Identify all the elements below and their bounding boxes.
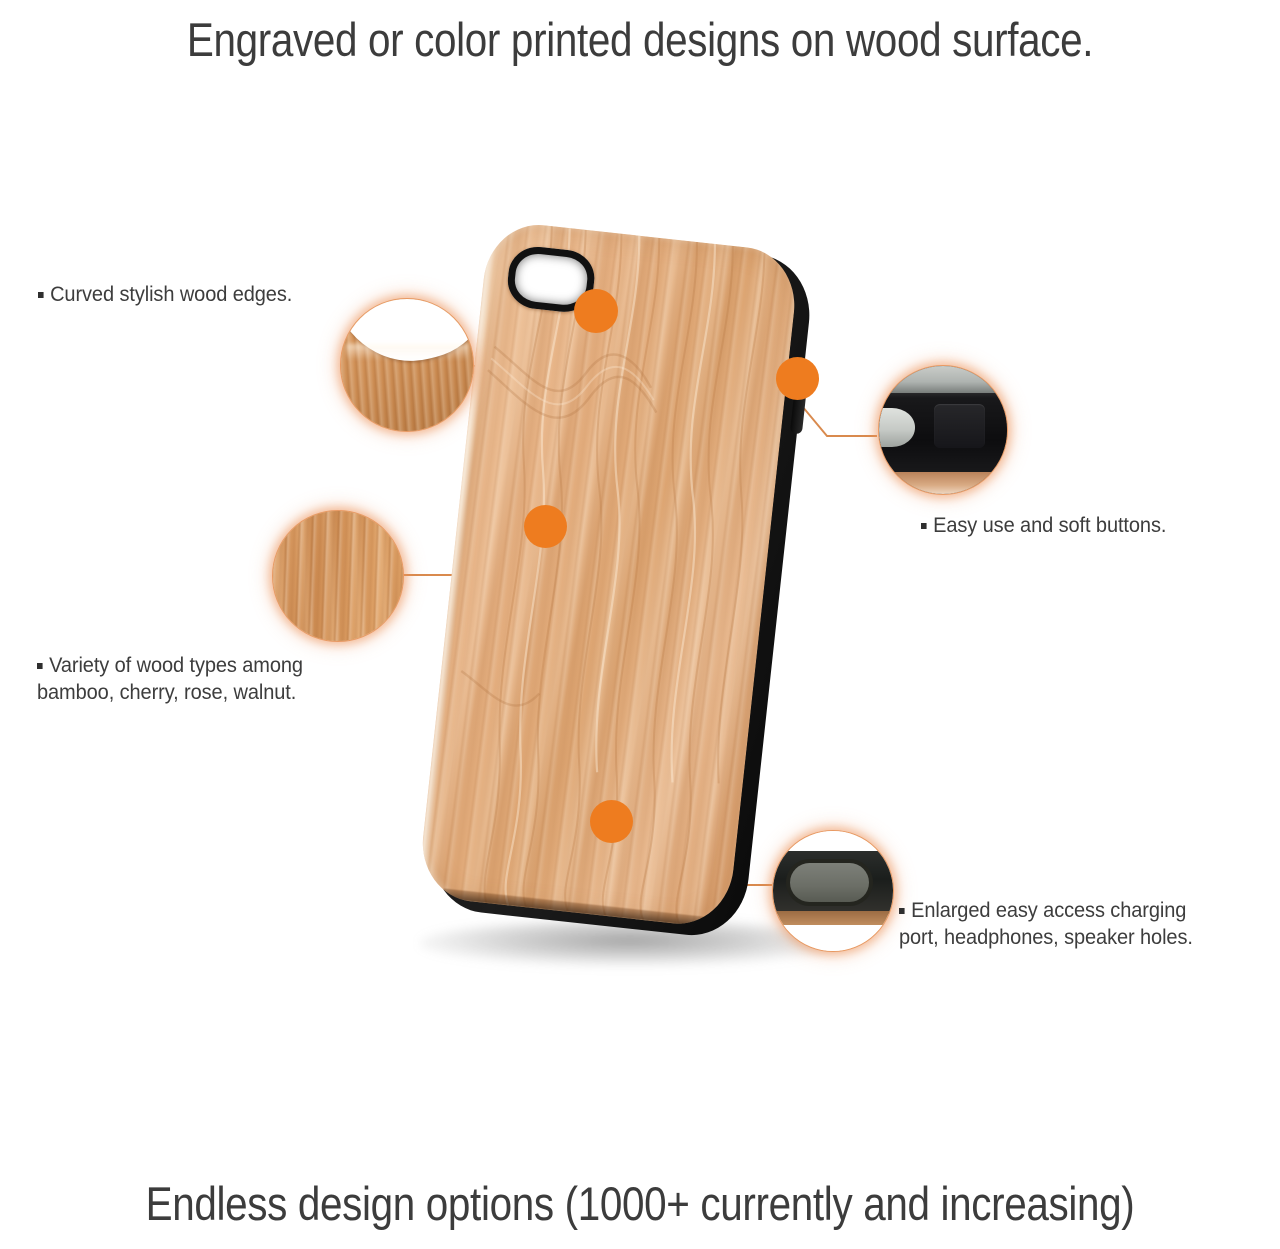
marker-dot-wood-types[interactable] [524, 505, 567, 548]
closeup-screen-edge [878, 366, 1008, 395]
callout-soft-buttons: Easy use and soft buttons. [921, 512, 1166, 539]
charging-port-closeup-circle [772, 830, 894, 952]
callout-line: bamboo, cherry, rose, walnut. [37, 679, 303, 706]
callout-text: Enlarged easy access charging [911, 898, 1186, 922]
callout-line: Easy use and soft buttons. [921, 512, 1166, 539]
callout-text: Variety of wood types among [49, 653, 303, 677]
callout-line: port, headphones, speaker holes. [899, 924, 1193, 951]
marker-dot-curved-edges[interactable] [574, 289, 618, 333]
callout-charging-ports: Enlarged easy access charging port, head… [899, 897, 1193, 951]
callout-text: Curved stylish wood edges. [50, 282, 292, 306]
square-bullet-icon [38, 292, 44, 298]
closeup-edge-highlight [346, 344, 467, 360]
square-bullet-icon [921, 523, 927, 529]
page-title-bottom: Endless design options (1000+ currently … [90, 1176, 1191, 1231]
closeup-dark-button [934, 404, 985, 448]
soft-buttons-closeup-circle [878, 365, 1008, 495]
closeup-wood-grain-swatch [272, 510, 404, 642]
callout-text: Easy use and soft buttons. [933, 513, 1166, 537]
callout-text: bamboo, cherry, rose, walnut. [37, 680, 296, 704]
callout-line: Enlarged easy access charging [899, 897, 1193, 924]
callout-text: port, headphones, speaker holes. [899, 925, 1193, 949]
curved-edge-closeup-circle [340, 298, 474, 432]
callout-wood-types: Variety of wood types among bamboo, cher… [37, 652, 303, 706]
square-bullet-icon [37, 663, 43, 669]
closeup-wood-strip [878, 472, 1008, 494]
callout-line: Variety of wood types among [37, 652, 303, 679]
closeup-port-wood-strip [772, 911, 894, 924]
infographic-canvas: Engraved or color printed designs on woo… [0, 0, 1280, 1249]
page-title-top: Engraved or color printed designs on woo… [90, 12, 1191, 67]
callout-line: Curved stylish wood edges. [38, 281, 292, 308]
callout-curved-edges: Curved stylish wood edges. [38, 281, 292, 308]
wood-grain-closeup-circle [272, 510, 404, 642]
square-bullet-icon [899, 908, 905, 914]
marker-dot-soft-buttons[interactable] [776, 357, 819, 400]
marker-dot-charging-port[interactable] [590, 800, 633, 843]
closeup-port-opening [790, 863, 869, 901]
